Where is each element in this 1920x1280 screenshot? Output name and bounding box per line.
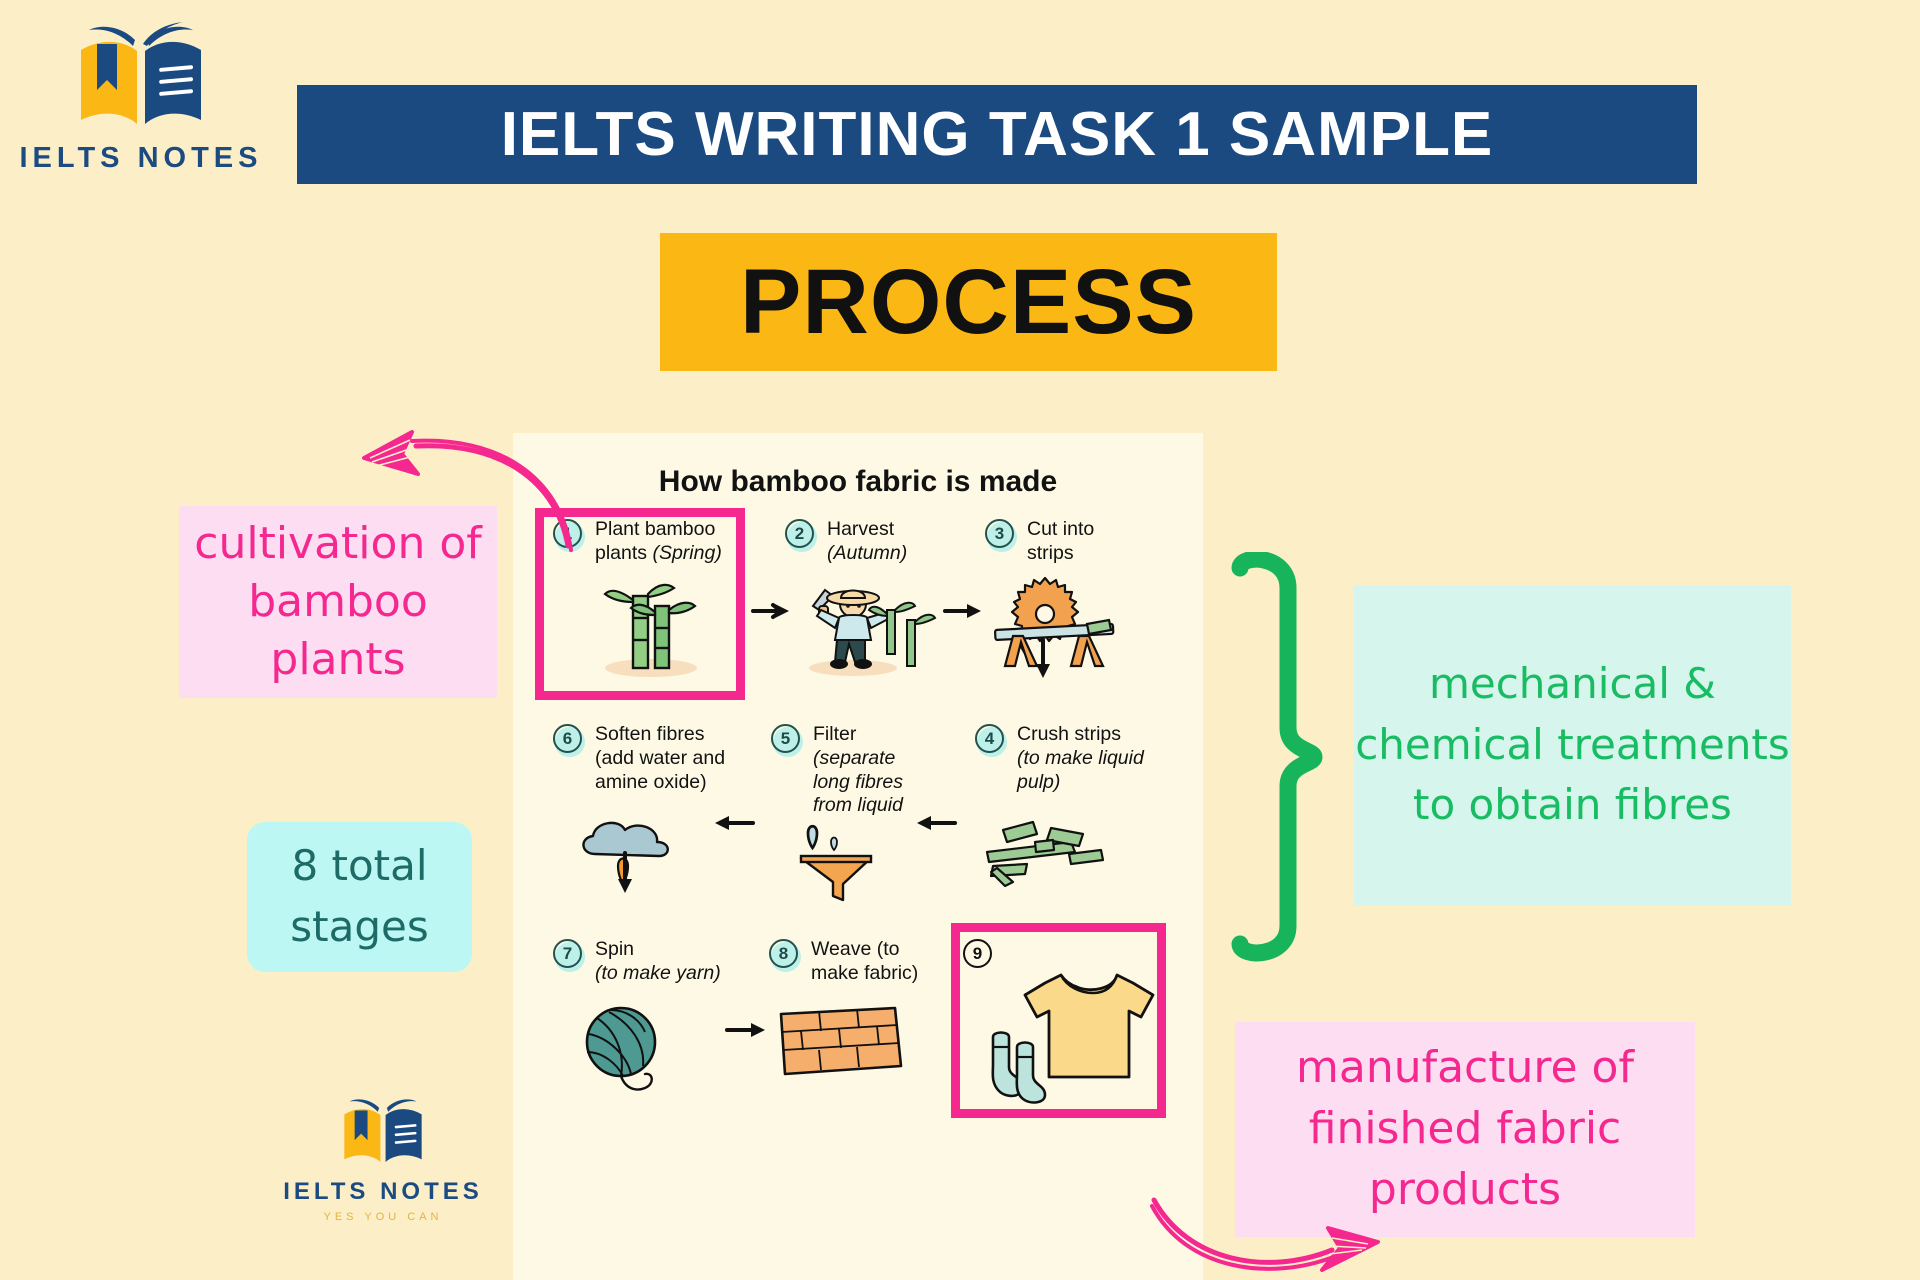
page-title-banner: IELTS WRITING TASK 1 SAMPLE bbox=[297, 85, 1697, 184]
step-8: 8 Weave (to make fabric) bbox=[769, 938, 934, 1090]
open-book-icon-footer bbox=[335, 1095, 431, 1171]
open-book-icon bbox=[67, 20, 215, 138]
step-8-label: Weave (to make fabric) bbox=[811, 938, 918, 986]
step-4-number-badge: 4 bbox=[975, 724, 1009, 758]
step-2: 2 Harvest (Autumn) bbox=[785, 518, 935, 681]
page-subtitle-banner: PROCESS bbox=[660, 233, 1277, 371]
step-8-number-badge: 8 bbox=[769, 939, 803, 973]
step-5-label: Filter (separate long fibres from liquid bbox=[813, 723, 906, 818]
bamboo-chips-icon bbox=[975, 808, 1125, 888]
step-3-number-badge: 3 bbox=[985, 519, 1019, 553]
circular-saw-icon bbox=[985, 574, 1135, 674]
process-diagram: How bamboo fabric is made 1 Plant bamboo… bbox=[513, 433, 1203, 1280]
step-6: 6 Soften fibres (add water and amine oxi… bbox=[553, 723, 728, 905]
arrow-step3-to-step4 bbox=[1033, 638, 1053, 682]
step-6-label: Soften fibres (add water and amine oxide… bbox=[595, 723, 728, 794]
brand-name-footer: IELTS NOTES bbox=[268, 1178, 498, 1206]
step-7: 7 Spin (to make yarn) bbox=[553, 938, 723, 1106]
arrow-step7-to-step8 bbox=[725, 1020, 771, 1040]
step-3-label: Cut into strips bbox=[1027, 518, 1094, 566]
brand-logo-footer: IELTS NOTES YES YOU CAN bbox=[268, 1095, 498, 1223]
arrow-step4-to-step5 bbox=[911, 813, 957, 833]
step-2-number-badge: 2 bbox=[785, 519, 819, 553]
arrow-step2-to-step3 bbox=[943, 601, 985, 621]
annotation-total-stages: 8 total stages bbox=[247, 822, 472, 972]
step-6-number-badge: 6 bbox=[553, 724, 587, 758]
step-5-number-badge: 5 bbox=[771, 724, 805, 758]
page-subtitle: PROCESS bbox=[740, 250, 1197, 355]
step-4: 4 Crush strips (to make liquid pulp) bbox=[975, 723, 1145, 893]
annotation-treatments: mechanical & chemical treatments to obta… bbox=[1354, 585, 1791, 905]
step-7-number-badge: 7 bbox=[553, 939, 587, 973]
brand-name: IELTS NOTES bbox=[16, 142, 266, 175]
brand-logo: IELTS NOTES bbox=[16, 20, 266, 175]
brand-tagline: YES YOU CAN bbox=[268, 1211, 498, 1223]
page-title: IELTS WRITING TASK 1 SAMPLE bbox=[501, 99, 1494, 170]
cloud-droplet-icon bbox=[567, 810, 707, 900]
green-brace-doodle bbox=[1218, 552, 1338, 962]
funnel-icon bbox=[781, 824, 891, 904]
farmer-harvesting-icon bbox=[791, 576, 941, 676]
highlight-box-step-1 bbox=[535, 508, 745, 700]
arrow-step6-to-step7 bbox=[615, 851, 635, 897]
step-5: 5 Filter (separate long fibres from liqu… bbox=[771, 723, 906, 909]
step-3: 3 Cut into strips bbox=[985, 518, 1135, 679]
annotation-cultivation: cultivation of bamboo plants bbox=[179, 506, 497, 698]
diagram-title: How bamboo fabric is made bbox=[513, 465, 1203, 499]
yarn-ball-icon bbox=[569, 996, 699, 1101]
annotation-manufacture: manufacture of finished fabric products bbox=[1235, 1022, 1695, 1237]
step-4-label: Crush strips (to make liquid pulp) bbox=[1017, 723, 1145, 794]
step-7-label: Spin (to make yarn) bbox=[595, 938, 721, 986]
step-2-label: Harvest (Autumn) bbox=[827, 518, 907, 566]
woven-fabric-icon bbox=[775, 1000, 915, 1085]
highlight-box-step-9 bbox=[951, 923, 1166, 1118]
